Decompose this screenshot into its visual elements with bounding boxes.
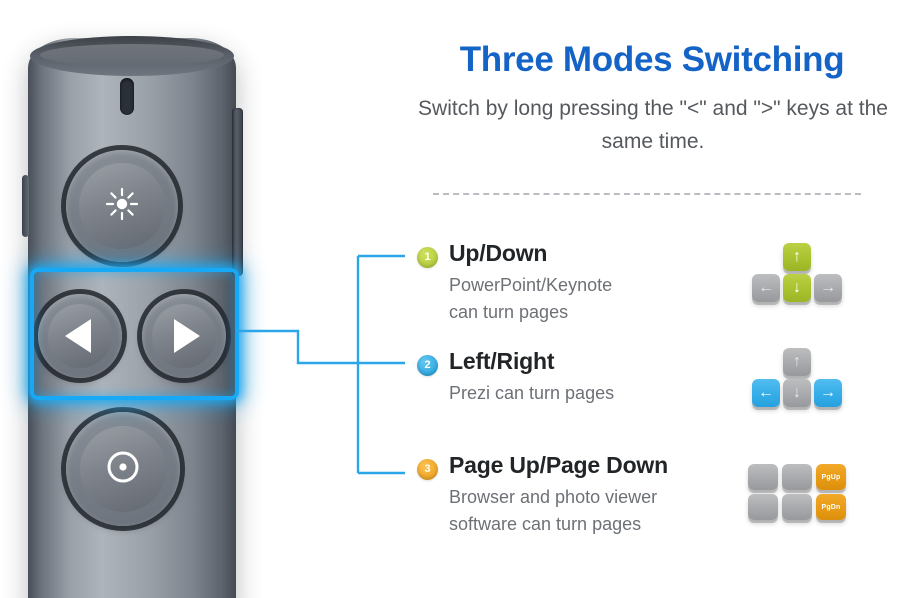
side-grip	[22, 175, 29, 237]
key-up: ↑	[783, 243, 811, 271]
mode-desc-3: Browser and photo viewer software can tu…	[449, 484, 657, 538]
key-blank	[782, 494, 812, 520]
led-indicator-slot	[120, 78, 134, 115]
key-down: ↓	[783, 274, 811, 302]
arrow-keys-highlight	[30, 268, 239, 400]
remote-top-highlight	[40, 44, 224, 66]
mode-title-2: Left/Right	[449, 348, 554, 375]
infographic-page: Three Modes Switching Switch by long pre…	[0, 0, 900, 598]
mode-title-3: Page Up/Page Down	[449, 452, 668, 479]
mode-title-1: Up/Down	[449, 240, 547, 267]
key-right: →	[814, 274, 842, 302]
product-image	[0, 0, 270, 598]
key-page-down: PgDn	[816, 494, 846, 520]
side-button[interactable]	[232, 108, 243, 276]
key-blank	[748, 494, 778, 520]
page-subtitle: Switch by long pressing the "<" and ">" …	[418, 92, 888, 158]
key-blank	[748, 464, 778, 490]
mode-desc-1: PowerPoint/Keynote can turn pages	[449, 272, 612, 326]
laser-pointer-button[interactable]	[66, 412, 180, 526]
key-up: ↑	[783, 348, 811, 376]
section-divider	[433, 193, 861, 195]
key-page-up-label: PgUp	[821, 474, 840, 481]
key-blank	[782, 464, 812, 490]
brightness-icon	[101, 183, 143, 230]
laser-target-icon	[100, 444, 146, 495]
key-left: ←	[752, 274, 780, 302]
brightness-button[interactable]	[66, 150, 178, 262]
triangle-left-icon	[65, 319, 91, 353]
mode-desc-2: Prezi can turn pages	[449, 380, 614, 407]
key-page-up: PgUp	[816, 464, 846, 490]
key-left: ←	[752, 379, 780, 407]
page-title: Three Modes Switching	[404, 40, 900, 80]
mode-badge-3: 3	[417, 459, 438, 480]
key-down: ↓	[783, 379, 811, 407]
mode-badge-2: 2	[417, 355, 438, 376]
triangle-right-icon	[174, 319, 200, 353]
mode-badge-1: 1	[417, 247, 438, 268]
key-page-down-label: PgDn	[821, 504, 840, 511]
key-right: →	[814, 379, 842, 407]
